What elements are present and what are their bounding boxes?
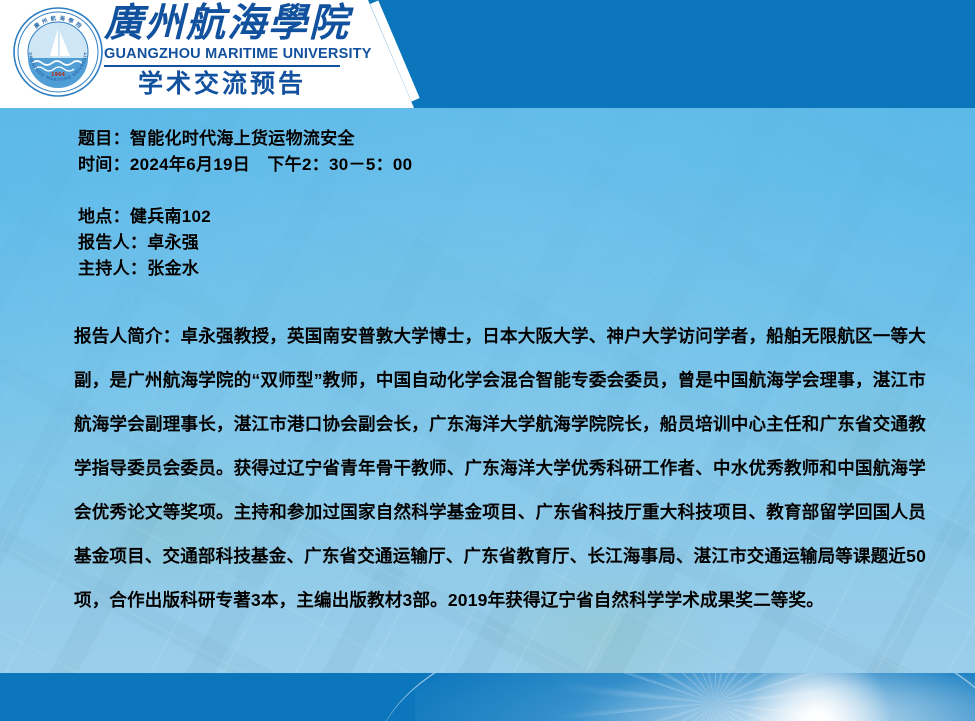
info-spacer [78, 178, 412, 204]
lecture-speaker-line: 报告人：卓永强 [78, 230, 412, 256]
lecture-time-line: 时间：2024年6月19日 下午2：30－5：00 [78, 152, 412, 178]
brand-name-english: GUANGZHOU MARITIME UNIVERSITY [104, 46, 340, 67]
brand-name-chinese: 廣州航海學院 [104, 2, 366, 46]
university-seal-icon: 1964 廣 州 航 海 學 院 GUANGZHOU MARITIME UNIV… [12, 6, 104, 98]
brand-block: 廣州航海學院 GUANGZHOU MARITIME UNIVERSITY 学术交… [104, 2, 366, 100]
lecture-info-block: 题目：智能化时代海上货运物流安全 时间：2024年6月19日 下午2：30－5：… [78, 126, 412, 282]
footer-band [0, 673, 975, 721]
lecture-place-line: 地点：健兵南102 [78, 204, 412, 230]
header-band: 1964 廣 州 航 海 學 院 GUANGZHOU MARITIME UNIV… [0, 0, 975, 108]
lecture-host-line: 主持人：张金水 [78, 256, 412, 282]
speaker-biography: 报告人简介：卓永强教授，英国南安普敦大学博士，日本大阪大学、神户大学访问学者，船… [74, 314, 926, 622]
sunburst-rays-icon [555, 673, 875, 721]
academic-lecture-poster: 1964 廣 州 航 海 學 院 GUANGZHOU MARITIME UNIV… [0, 0, 975, 721]
footer-arc-line [375, 673, 975, 721]
sunburst-glow-icon [415, 673, 975, 721]
poster-subtitle: 学术交流预告 [104, 70, 340, 100]
lecture-title-line: 题目：智能化时代海上货运物流安全 [78, 126, 412, 152]
